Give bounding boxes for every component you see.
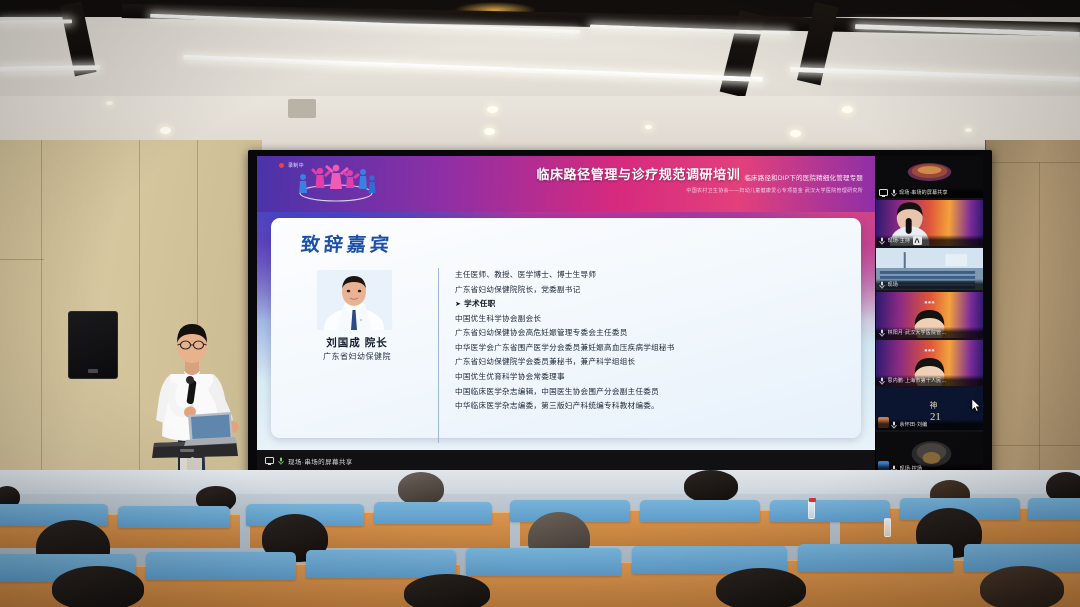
participant-name-label: 余怀田·刘编 <box>900 421 928 428</box>
wall-seam <box>985 162 1080 163</box>
audience-head <box>398 472 444 505</box>
participant-thumbnail[interactable]: 现场 <box>876 248 983 290</box>
ceiling-downlight <box>965 128 972 132</box>
wall-seam <box>985 445 1080 446</box>
ceiling-downlight <box>487 106 498 113</box>
microphone-icon <box>879 232 885 247</box>
participant-label-bar: 现场 <box>876 279 983 290</box>
floor-strip <box>0 470 1080 494</box>
participant-label-bar: 现场·串场的屏幕共享 <box>876 187 983 198</box>
participant-thumbnail[interactable]: ●●●思内鹏·上海市第十人民… <box>876 340 983 386</box>
ceiling-downlight <box>484 128 495 135</box>
conference-hall-scene: 录制中 <box>0 0 1080 607</box>
speaker-bio-line: 中国优生优育科学协会常委理事 <box>455 370 849 385</box>
speaker-bio-text: 广东省妇幼保健院学会委员兼秘书，兼产科学组组长 <box>455 357 635 366</box>
participant-name-label: 现场·串场的屏幕共享 <box>899 189 948 196</box>
audience-seat <box>466 548 621 576</box>
wall-right-panel <box>985 140 1080 520</box>
participant-label-bar: 现场·主持 <box>876 235 983 246</box>
participant-name-label: 林阳月·武汉大学医院管… <box>888 329 947 336</box>
slide-divider <box>438 268 439 443</box>
wall-seam <box>0 259 44 260</box>
slide-content-card: 致辞嘉宾 <box>271 218 861 438</box>
speaker-bio-text: 中国优生科学协会副会长 <box>455 314 541 323</box>
participant-label-bar: 余怀田·刘编 <box>876 419 983 430</box>
audience-seat <box>640 500 760 522</box>
ceiling-projector-box <box>288 99 316 118</box>
ceiling-downlight <box>790 130 801 137</box>
slide-organizer-line: 中国农村卫生协会——妇幼儿童健康爱心专项基金 武汉大学医院管理研究所 <box>536 187 863 194</box>
speaker-bio-line: ➤学术任职 <box>455 297 849 312</box>
stage-share-label: 现场·串场的屏幕共享 <box>288 456 353 466</box>
audience-seating <box>0 470 1080 607</box>
ceiling-downlight <box>160 127 171 134</box>
participant-thumbnail[interactable]: 现场·主持 <box>876 200 983 246</box>
ceiling-downlight <box>645 125 652 129</box>
participant-sidebar[interactable]: 现场·串场的屏幕共享现场·主持现场●●●林阳月·武汉大学医院管…●●●思内鹏·上… <box>875 156 983 472</box>
participant-thumbnail[interactable]: 神21余怀田·刘编 <box>876 388 983 430</box>
water-bottle <box>808 500 815 519</box>
wall-mounted-speaker <box>68 311 118 379</box>
microphone-icon <box>879 372 885 387</box>
slide-title: 临床路径管理与诊疗规范调研培训 <box>536 164 740 183</box>
bullet-arrow-icon: ➤ <box>455 301 461 308</box>
svg-text:●●●: ●●● <box>924 348 935 354</box>
audience-seat <box>306 550 456 578</box>
stage-bottom-bar: 现场·串场的屏幕共享 <box>257 450 875 472</box>
audience-seat <box>1028 498 1080 520</box>
ceiling-led-strip <box>183 55 763 82</box>
audience-head <box>980 566 1064 607</box>
speaker-organization: 广东省妇幼保健院 <box>293 351 421 362</box>
speaker-bio-text: 中华临床医学杂志编委，第三版妇产科统编专科教材编委。 <box>455 401 659 410</box>
audience-seat <box>770 500 890 522</box>
audience-seat <box>374 502 492 524</box>
presentation-screen[interactable]: 录制中 <box>257 156 983 472</box>
participant-thumbnail-list: 现场·串场的屏幕共享现场·主持现场●●●林阳月·武汉大学医院管…●●●思内鹏·上… <box>876 156 983 472</box>
speaker-bio-line: 中华临床医学杂志编委，第三版妇产科统编专科教材编委。 <box>455 399 849 414</box>
water-bottle <box>884 518 891 537</box>
audience-head <box>716 568 806 607</box>
speaker-name: 刘国成 院长 <box>293 335 421 350</box>
speaker-bio-line: 主任医师、教授、医学博士、博士生导师 <box>455 268 849 283</box>
speaker-bio-text: 主任医师、教授、医学博士、博士生导师 <box>455 270 596 279</box>
ceiling-downlight <box>842 106 853 113</box>
speaker-bio-line: 广东省妇幼保健协会高危妊娠管理专委会主任委员 <box>455 326 849 341</box>
participant-thumbnail[interactable]: ●●●林阳月·武汉大学医院管… <box>876 292 983 338</box>
shared-screen-stage[interactable]: 录制中 <box>257 156 875 472</box>
screen-share-icon <box>879 184 888 199</box>
svg-text:神: 神 <box>930 400 938 410</box>
speaker-bio-text: 中国临床医学杂志编辑，中国医生协会围产分会副主任委员 <box>455 387 659 396</box>
speaker-bio-text: 中华医学会广东省围产医学分会委员兼妊娠高血压疾病学组秘书 <box>455 343 675 352</box>
participant-name-label: 思内鹏·上海市第十人民… <box>888 377 947 384</box>
presentation-slide: 录制中 <box>257 156 875 450</box>
speaker-bio-line: 广东省妇幼保健院学会委员兼秘书，兼产科学组组长 <box>455 355 849 370</box>
slide-section-heading: 致辞嘉宾 <box>300 230 394 257</box>
participant-name-label: 现场 <box>888 281 898 288</box>
audience-head <box>52 566 144 607</box>
microphone-icon <box>879 324 885 339</box>
audience-seat <box>118 506 230 528</box>
ceiling-downlight <box>106 101 113 105</box>
audience-seat <box>146 552 296 580</box>
sign-language-icon <box>913 232 922 247</box>
ceiling-led-strip <box>0 19 72 24</box>
participant-thumbnail[interactable]: 现场·串场的屏幕共享 <box>876 156 983 198</box>
speaker-bio-text: 广东省妇幼保健协会高危妊娠管理专委会主任委员 <box>455 328 628 337</box>
audience-head <box>684 470 738 502</box>
audience-seat <box>798 544 953 572</box>
slide-people-logo-icon <box>293 163 379 203</box>
microphone-icon <box>891 184 897 199</box>
speaker-bio-text: 广东省妇幼保健院院长，党委副书记 <box>455 285 581 294</box>
video-conference-app: 录制中 <box>257 156 983 472</box>
speaker-portrait-photo <box>317 270 392 330</box>
svg-text:●●●: ●●● <box>924 300 935 306</box>
ceiling-led-strip <box>790 67 1080 82</box>
wall-seam <box>1039 162 1040 520</box>
wall-seam <box>41 140 42 520</box>
screen-share-icon <box>265 457 274 465</box>
audience-head <box>404 574 490 607</box>
presentation-screen-frame: 录制中 <box>248 150 992 480</box>
speaker-bio-text: 中国优生优育科学协会常委理事 <box>455 372 565 381</box>
speaker-bio-list: 主任医师、教授、医学博士、博士生导师广东省妇幼保健院院长，党委副书记➤学术任职中… <box>455 268 849 414</box>
microphone-icon <box>278 457 284 465</box>
speaker-bio-line: 中华医学会广东省围产医学分会委员兼妊娠高血压疾病学组秘书 <box>455 341 849 356</box>
speaker-bio-line: 中国优生科学协会副会长 <box>455 312 849 327</box>
slide-subtitle: 临床路径和DIP下的医院精细化管理专题 <box>744 172 863 184</box>
speaker-bio-line: 中国临床医学杂志编辑，中国医生协会围产分会副主任委员 <box>455 385 849 400</box>
slide-title-block: 临床路径管理与诊疗规范调研培训临床路径和DIP下的医院精细化管理专题 中国农村卫… <box>536 164 863 194</box>
ceiling <box>0 0 1080 152</box>
speaker-bio-line: 广东省妇幼保健院院长，党委副书记 <box>455 283 849 298</box>
participant-label-bar: 林阳月·武汉大学医院管… <box>876 327 983 338</box>
microphone-icon <box>891 416 897 431</box>
speaker-bio-text: 学术任职 <box>464 299 495 308</box>
participant-name-label: 现场·主持 <box>888 237 911 244</box>
participant-label-bar: 思内鹏·上海市第十人民… <box>876 375 983 386</box>
participant-thumbnail[interactable]: 现场·控场 <box>876 432 983 472</box>
recording-dot-icon <box>279 163 284 168</box>
microphone-icon <box>879 276 885 291</box>
